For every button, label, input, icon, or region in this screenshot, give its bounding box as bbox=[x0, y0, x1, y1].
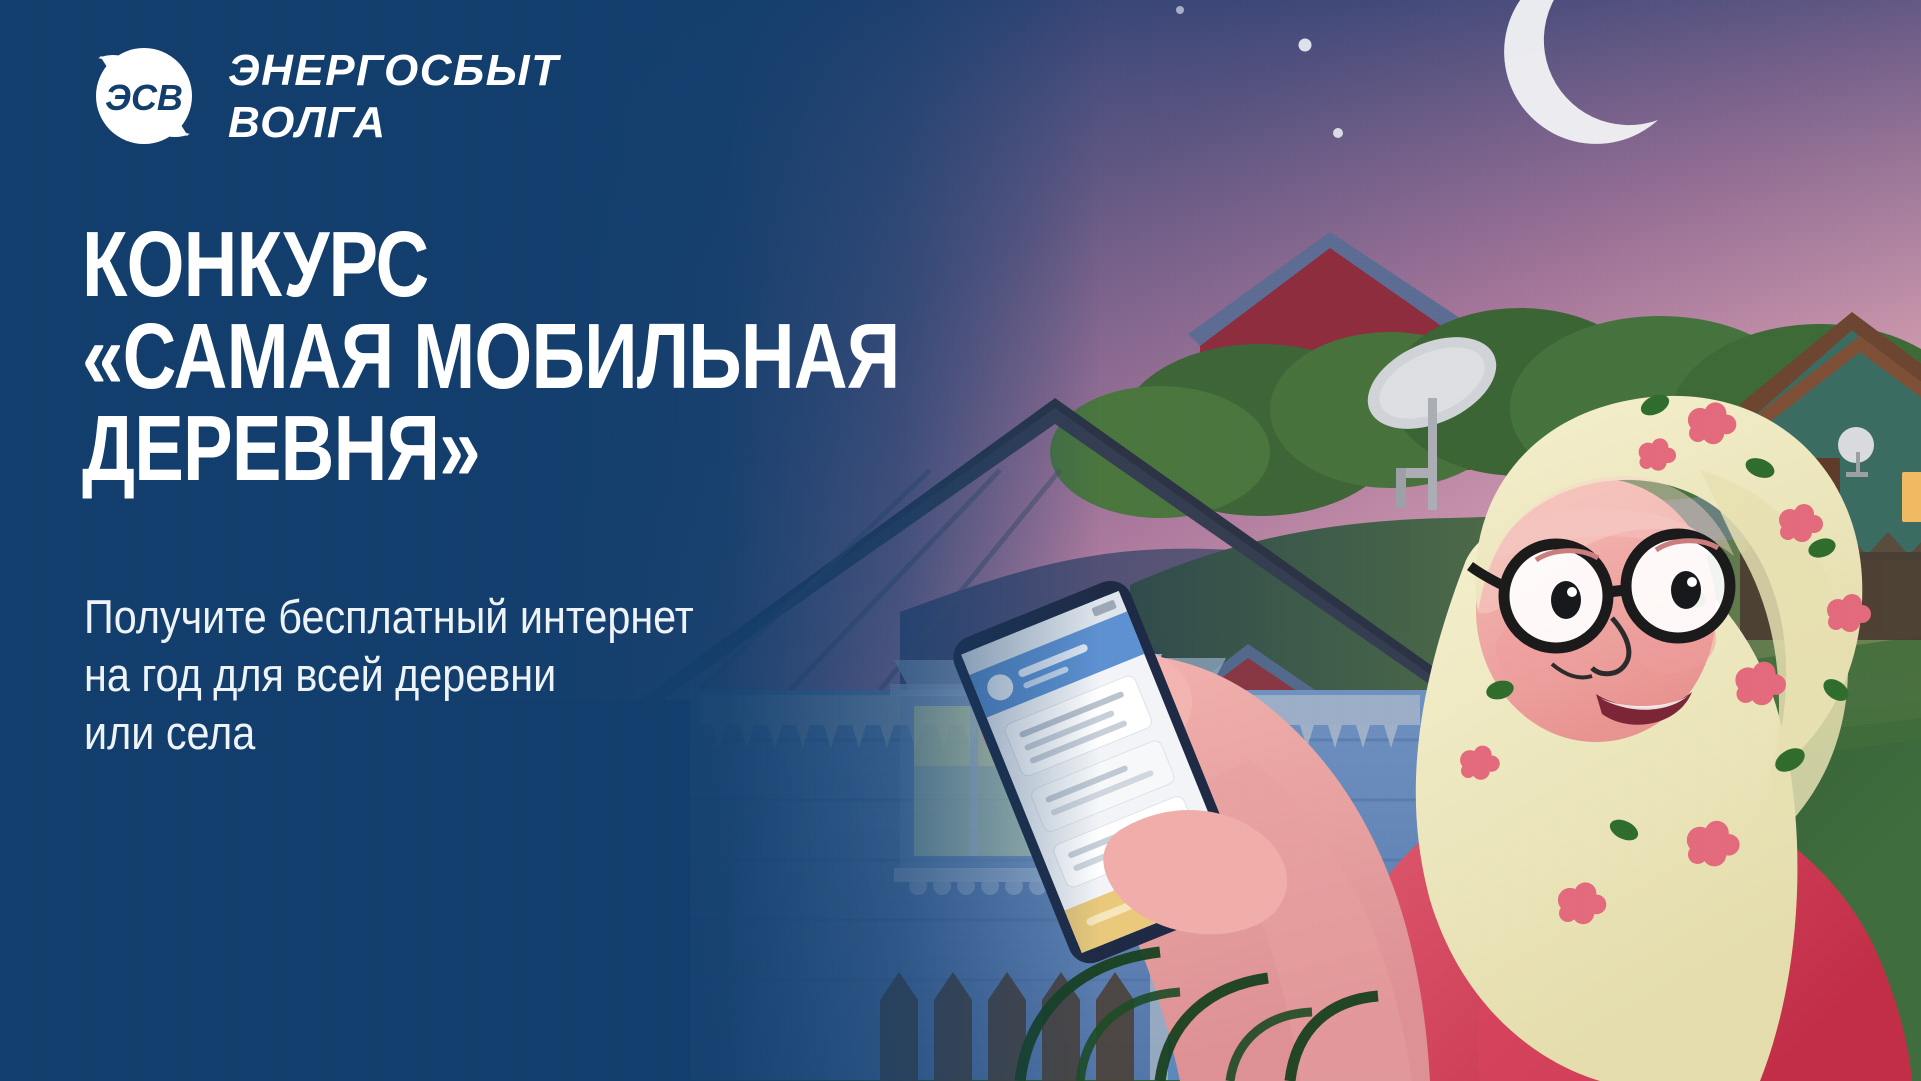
headline-line-2: «САМАЯ МОБИЛЬНАЯ bbox=[82, 310, 802, 402]
headline: КОНКУРС «САМАЯ МОБИЛЬНАЯ ДЕРЕВНЯ» bbox=[82, 218, 982, 494]
headline-line-3: ДЕРЕВНЯ» bbox=[82, 402, 802, 494]
subtitle-line-1: Получите бесплатный интернет bbox=[84, 588, 806, 646]
banner-content: ЭСВ ЭНЕРГОСБЫТ ВОЛГА КОНКУРС «САМАЯ МОБИ… bbox=[0, 0, 1000, 1081]
subtitle-line-3: или села bbox=[84, 704, 806, 762]
logo-text: ЭСВ bbox=[105, 77, 183, 118]
subtitle-line-2: на год для всей деревни bbox=[84, 646, 806, 704]
brand-name-line2: ВОЛГА bbox=[228, 97, 560, 149]
brand-name: ЭНЕРГОСБЫТ ВОЛГА bbox=[228, 45, 560, 149]
promo-banner: ЭСВ ЭНЕРГОСБЫТ ВОЛГА КОНКУРС «САМАЯ МОБИ… bbox=[0, 0, 1921, 1081]
circular-arrows-logo-icon: ЭСВ bbox=[84, 36, 204, 156]
headline-line-1: КОНКУРС bbox=[82, 218, 802, 310]
subtitle: Получите бесплатный интернет на год для … bbox=[84, 588, 904, 762]
brand-logo-lockup[interactable]: ЭСВ ЭНЕРГОСБЫТ ВОЛГА bbox=[84, 36, 560, 156]
brand-name-line1: ЭНЕРГОСБЫТ bbox=[228, 45, 560, 97]
